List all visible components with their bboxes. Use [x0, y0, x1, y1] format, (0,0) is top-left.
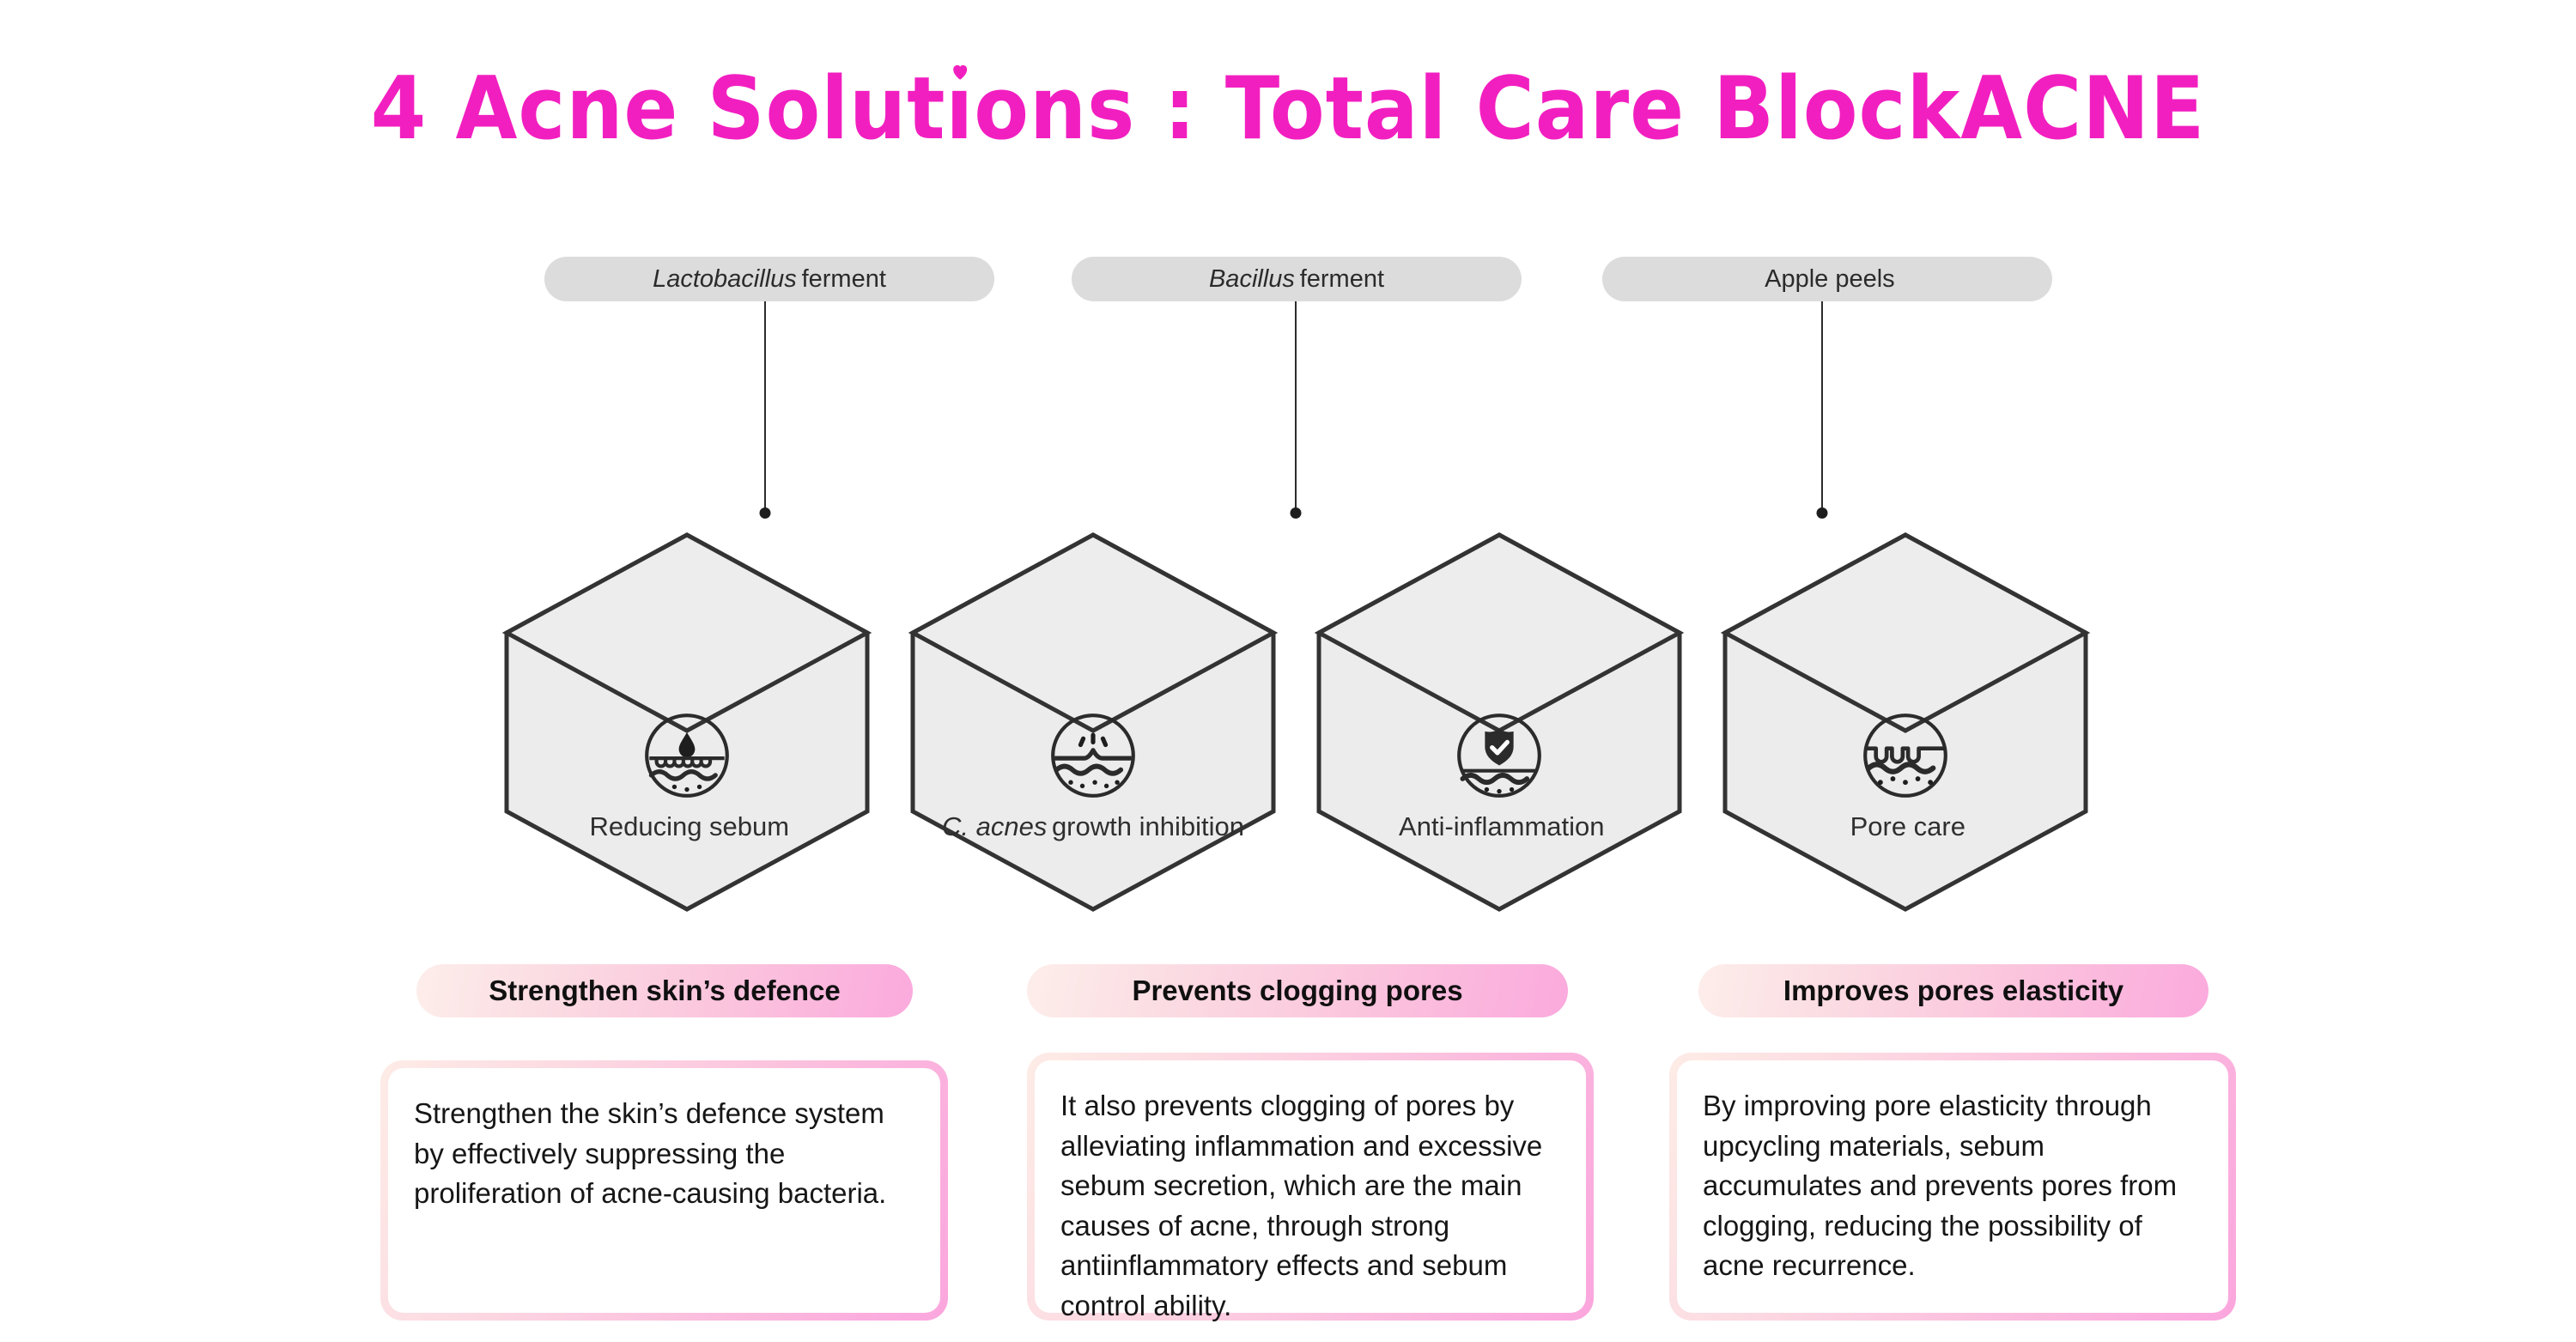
connector-dot-apple-peels: [1817, 507, 1828, 519]
pore-skin-icon: [1861, 711, 1950, 800]
cube-c-acnes[interactable]: C. acnesgrowth inhibition: [906, 528, 1280, 916]
cube-anti-inflammation[interactable]: Anti-inflammation: [1312, 528, 1686, 916]
title-text-before: 4 Acne Solut: [371, 58, 946, 159]
cube-label-text: Reducing sebum: [589, 811, 789, 841]
benefit-heading-text: Strengthen skin’s defence: [489, 975, 841, 1007]
source-pill-apple-peels[interactable]: Apple peels: [1602, 257, 2052, 301]
benefit-heading-text: Prevents clogging pores: [1132, 975, 1462, 1007]
connector-dot-lactobacillus: [760, 507, 771, 519]
benefit-card-body: By improving pore elasticity through upc…: [1677, 1060, 2228, 1313]
source-label: ferment: [1300, 265, 1384, 294]
benefit-heading-text: Improves pores elasticity: [1783, 975, 2123, 1007]
title-text-after: ons : Total Care BlockACNE: [974, 58, 2205, 159]
connector-dot-bacillus: [1291, 507, 1302, 519]
title-heart-i: ı: [945, 65, 974, 152]
connector-line-apple-peels: [1821, 301, 1823, 510]
benefit-heading-defence[interactable]: Strengthen skin’s defence: [416, 964, 913, 1017]
cube-label-text: growth inhibition: [1052, 811, 1244, 841]
cube-label-text: Anti-inflammation: [1399, 811, 1604, 841]
cube-label-anti-inflammation: Anti-inflammation: [1312, 811, 1686, 842]
shield-check-skin-icon: [1455, 711, 1544, 800]
cube-pore-care[interactable]: Pore care: [1718, 528, 2093, 916]
source-italic-name: Bacillus: [1209, 265, 1295, 294]
benefit-heading-elasticity[interactable]: Improves pores elasticity: [1698, 964, 2208, 1017]
source-label: Apple peels: [1765, 265, 1895, 294]
infographic-canvas: 4 Acne Solutıons : Total Care BlockACNE …: [0, 0, 2576, 1342]
source-label: ferment: [802, 265, 886, 294]
benefit-card-body: Strengthen the skin’s defence system by …: [388, 1068, 940, 1313]
source-italic-name: Lactobacillus: [653, 265, 797, 294]
cube-label-pore-care: Pore care: [1718, 811, 2093, 842]
connector-line-bacillus: [1295, 301, 1297, 510]
sebum-droplet-skin-icon: [642, 711, 732, 800]
cube-reducing-sebum[interactable]: Reducing sebum: [500, 528, 874, 916]
benefit-heading-clogging[interactable]: Prevents clogging pores: [1027, 964, 1568, 1017]
benefit-card-defence: Strengthen the skin’s defence system by …: [380, 1060, 948, 1321]
cube-label-text: Pore care: [1850, 811, 1965, 841]
source-pill-bacillus[interactable]: Bacillusferment: [1072, 257, 1522, 301]
source-pill-lactobacillus[interactable]: Lactobacillusferment: [544, 257, 994, 301]
cube-label-c-acnes: C. acnesgrowth inhibition: [906, 811, 1280, 842]
acne-bump-skin-icon: [1048, 711, 1138, 800]
benefit-card-body: It also prevents clogging of pores by al…: [1035, 1060, 1586, 1313]
page-title: 4 Acne Solutıons : Total Care BlockACNE: [103, 65, 2473, 152]
benefit-card-clogging: It also prevents clogging of pores by al…: [1027, 1053, 1594, 1321]
connector-line-lactobacillus: [764, 301, 766, 510]
benefit-card-elasticity: By improving pore elasticity through upc…: [1669, 1053, 2236, 1321]
cube-label-italic: C. acnes: [942, 811, 1047, 841]
cube-label-reducing-sebum: Reducing sebum: [500, 811, 874, 842]
